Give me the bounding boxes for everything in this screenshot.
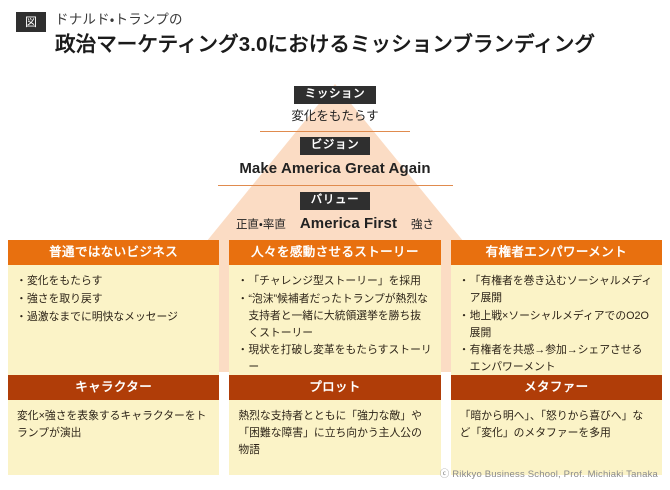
list-item: 地上戦×ソーシャルメディアでのO2O展開: [460, 308, 653, 341]
list-item: 現状を打破し変革をもたらすストーリー: [238, 342, 431, 375]
tier-mission: ミッション 変化をもたらす: [0, 84, 670, 132]
figure-badge: 図: [16, 12, 46, 32]
bottom-row: キャラクター 変化×強さを表象するキャラクターをトランプが演出 プロット 熱烈な…: [8, 375, 662, 475]
value-center: America First: [300, 215, 397, 232]
card-title: 有権者エンパワーメント: [451, 240, 662, 265]
card-body: 変化×強さを表象するキャラクターをトランプが演出: [8, 400, 219, 475]
middle-row: 普通ではないビジネス 変化をもたらす 強さを取り戻す 過激なまでに明快なメッセー…: [8, 240, 662, 394]
copyright-notice: ⓒ Rikkyo Business School, Prof. Michiaki…: [440, 466, 658, 480]
card-text: 「暗から明へ」、「怒りから喜びへ」など「変化」のメタファーを多用: [460, 408, 653, 441]
card-text: 熱烈な支持者とともに「強力な敵」や「困難な障害」に立ち向かう主人公の物語: [238, 408, 431, 458]
list-item: 「有権者を巻き込むソーシャルメディア展開: [460, 273, 653, 306]
card-title: 普通ではないビジネス: [8, 240, 219, 265]
card-title: キャラクター: [8, 375, 219, 400]
card-character: キャラクター 変化×強さを表象するキャラクターをトランプが演出: [8, 375, 219, 475]
card-title: メタファー: [451, 375, 662, 400]
diagram-canvas: 図 ドナルド・トランプの 政治マーケティング3.0におけるミッションブランディン…: [0, 0, 670, 490]
tier-vision: ビジョン Make America Great Again: [0, 135, 670, 186]
tier-divider: [260, 131, 410, 132]
card-story: 人々を感動させるストーリー 「チャレンジ型ストーリー」を採用 “泡沫”候補者だっ…: [229, 240, 440, 394]
list-item: 有権者を共感→参加→シェアさせるエンパワーメント: [460, 342, 653, 375]
card-empowerment: 有権者エンパワーメント 「有権者を巻き込むソーシャルメディア展開 地上戦×ソーシ…: [451, 240, 662, 394]
value-right: 強さ: [411, 216, 434, 232]
tier-divider: [218, 185, 453, 186]
header-subtitle: ドナルド・トランプの: [55, 12, 595, 29]
card-body: 「暗から明へ」、「怒りから喜びへ」など「変化」のメタファーを多用: [451, 400, 662, 475]
list-item: 「チャレンジ型ストーリー」を採用: [238, 273, 431, 290]
page-title: 政治マーケティング3.0におけるミッションブランディング: [55, 32, 595, 59]
vision-label: ビジョン: [300, 137, 370, 156]
header: 図 ドナルド・トランプの 政治マーケティング3.0におけるミッションブランディン…: [16, 12, 660, 59]
list-item: 過激なまでに明快なメッセージ: [17, 309, 210, 326]
pyramid-tiers: ミッション 変化をもたらす ビジョン Make America Great Ag…: [0, 84, 670, 244]
tier-value: バリュー 正直・率直 America First 強さ: [0, 190, 670, 232]
card-metaphor: メタファー 「暗から明へ」、「怒りから喜びへ」など「変化」のメタファーを多用: [451, 375, 662, 475]
card-text: 変化×強さを表象するキャラクターをトランプが演出: [17, 408, 210, 441]
list-item: 強さを取り戻す: [17, 291, 210, 308]
vision-value: Make America Great Again: [0, 160, 670, 178]
mission-value: 変化をもたらす: [0, 109, 670, 124]
list-item: “泡沫”候補者だったトランプが熱烈な支持者と一緒に大統領選挙を勝ち抜くストーリー: [238, 291, 431, 341]
card-title: 人々を感動させるストーリー: [229, 240, 440, 265]
card-body: 熱烈な支持者とともに「強力な敵」や「困難な障害」に立ち向かう主人公の物語: [229, 400, 440, 475]
list-item: 変化をもたらす: [17, 273, 210, 290]
card-plot: プロット 熱烈な支持者とともに「強力な敵」や「困難な障害」に立ち向かう主人公の物…: [229, 375, 440, 475]
mission-label: ミッション: [294, 86, 377, 105]
value-label: バリュー: [300, 192, 370, 211]
card-title: プロット: [229, 375, 440, 400]
value-left: 正直・率直: [236, 216, 286, 232]
card-business: 普通ではないビジネス 変化をもたらす 強さを取り戻す 過激なまでに明快なメッセー…: [8, 240, 219, 394]
